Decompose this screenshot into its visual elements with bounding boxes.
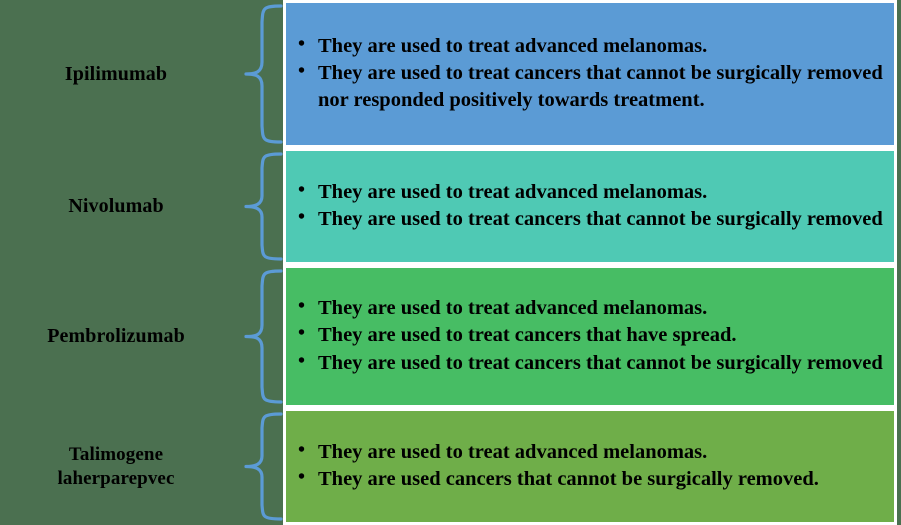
content-panel-nivolumab: They are used to treat advanced melanoma…: [283, 148, 897, 265]
diagram-row: Nivolumab They are used to treat advance…: [0, 148, 901, 265]
bullet-list: They are used to treat advanced melanoma…: [296, 179, 884, 232]
row-panel-cell: They are used to treat advanced melanoma…: [283, 148, 901, 265]
content-panel-ipilimumab: They are used to treat advanced melanoma…: [283, 0, 897, 148]
curly-brace-icon: [232, 408, 283, 525]
list-item: They are used to treat cancers that cann…: [296, 60, 884, 112]
list-item: They are used to treat cancers that cann…: [296, 350, 884, 376]
list-item: They are used cancers that cannot be sur…: [296, 466, 884, 492]
row-label-text: Talimogene laherparepvec: [57, 443, 174, 489]
curly-brace-icon: [232, 0, 283, 148]
content-panel-talimogene: They are used to treat advanced melanoma…: [283, 408, 897, 525]
row-label-text: Pembrolizumab: [47, 324, 185, 348]
diagram-row: Ipilimumab They are used to treat advanc…: [0, 0, 901, 148]
list-item: They are used to treat advanced melanoma…: [296, 179, 884, 205]
row-panel-cell: They are used to treat advanced melanoma…: [283, 408, 901, 525]
row-panel-cell: They are used to treat advanced melanoma…: [283, 0, 901, 148]
list-item: They are used to treat advanced melanoma…: [296, 439, 884, 465]
content-panel-pembrolizumab: They are used to treat advanced melanoma…: [283, 265, 897, 408]
bullet-list: They are used to treat advanced melanoma…: [296, 295, 884, 375]
curly-brace-icon: [232, 148, 283, 265]
list-item: They are used to treat cancers that cann…: [296, 206, 884, 232]
bullet-list: They are used to treat advanced melanoma…: [296, 33, 884, 112]
row-label-text: Nivolumab: [68, 194, 163, 218]
row-panel-cell: They are used to treat advanced melanoma…: [283, 265, 901, 408]
row-label-talimogene-laherparepvec: Talimogene laherparepvec: [0, 408, 232, 525]
list-item: They are used to treat advanced melanoma…: [296, 295, 884, 321]
list-item: They are used to treat cancers that have…: [296, 322, 884, 348]
bullet-list: They are used to treat advanced melanoma…: [296, 439, 884, 492]
row-label-nivolumab: Nivolumab: [0, 148, 232, 265]
diagram-row: Pembrolizumab They are used to treat adv…: [0, 265, 901, 408]
row-label-text: Ipilimumab: [65, 62, 167, 86]
row-label-ipilimumab: Ipilimumab: [0, 0, 232, 148]
diagram-row: Talimogene laherparepvec They are used t…: [0, 408, 901, 525]
drug-indications-diagram: Ipilimumab They are used to treat advanc…: [0, 0, 901, 525]
curly-brace-icon: [232, 265, 283, 408]
list-item: They are used to treat advanced melanoma…: [296, 33, 884, 59]
row-label-pembrolizumab: Pembrolizumab: [0, 265, 232, 408]
